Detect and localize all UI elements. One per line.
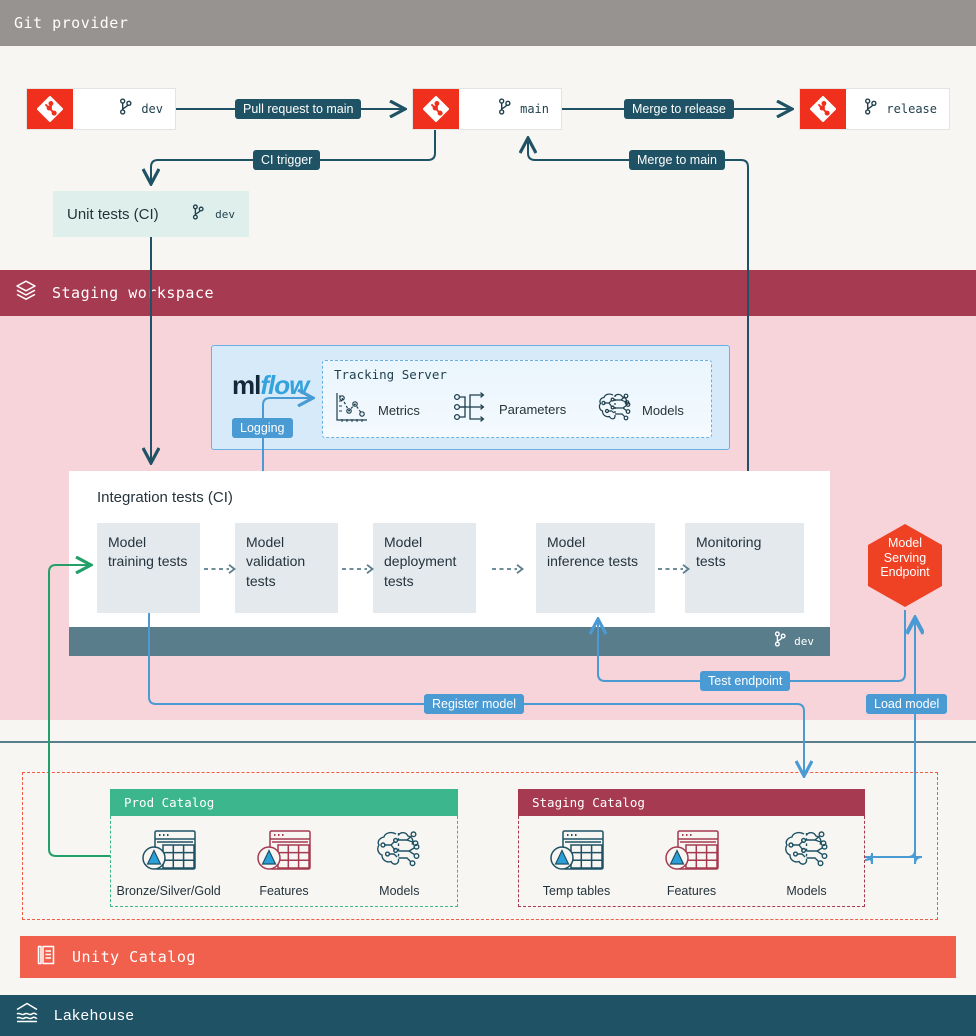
label-pull-request: Pull request to main [235, 99, 361, 119]
catalog-book-icon [34, 943, 58, 972]
dashed-arrow-icon [657, 563, 693, 575]
test-card-monitoring[interactable]: Monitoring tests [685, 523, 804, 613]
test-card-label: Model training tests [108, 534, 187, 569]
catalog-item-label: Models [786, 884, 826, 898]
feature-table-icon [664, 828, 720, 879]
repo-box-dev[interactable]: dev [26, 88, 176, 130]
catalog-item-label: Features [667, 884, 716, 898]
branch-icon [191, 204, 205, 225]
unit-tests-branch: dev [215, 208, 235, 221]
model-serving-endpoint-label: Model Serving Endpoint [866, 536, 944, 580]
prod-catalog: Prod Catalog Bronze/Silver/Gold [110, 789, 458, 907]
unit-tests-label: Unit tests (CI) [67, 206, 181, 223]
label-merge-to-release: Merge to release [624, 99, 734, 119]
lakehouse-icon [14, 1001, 40, 1030]
label-load-model: Load model [866, 694, 947, 714]
staging-catalog-title: Staging Catalog [532, 795, 645, 810]
catalog-item-models[interactable]: Models [349, 828, 449, 898]
scatter-chart-icon [334, 391, 370, 430]
lakehouse-label: Lakehouse [54, 1007, 135, 1024]
git-provider-label: Git provider [14, 14, 128, 32]
staging-workspace-band: Staging workspace [0, 270, 976, 316]
prod-catalog-header: Prod Catalog [110, 789, 458, 816]
test-card-label: Monitoring tests [696, 534, 761, 569]
label-merge-to-main: Merge to main [629, 150, 725, 170]
catalog-item-label: Temp tables [543, 884, 610, 898]
branch-name: release [886, 102, 937, 116]
label-test-endpoint: Test endpoint [700, 671, 790, 691]
mlflow-logo-flow: flow [260, 370, 308, 400]
feature-table-icon [256, 828, 312, 879]
dashed-arrow-icon [341, 563, 377, 575]
git-logo-icon [413, 89, 459, 129]
prod-catalog-title: Prod Catalog [124, 795, 214, 810]
brain-circuit-icon [374, 828, 424, 879]
delta-table-icon [141, 828, 197, 879]
branch-name: dev [141, 102, 163, 116]
tracking-item-label: Models [642, 403, 684, 418]
test-card-label: Model inference tests [547, 534, 638, 569]
delta-table-icon [549, 828, 605, 879]
test-card-label: Model deployment tests [384, 534, 456, 589]
integration-tests-panel: Integration tests (CI) Model training te… [69, 471, 830, 656]
branch-icon [863, 98, 878, 120]
catalog-item-features[interactable]: Features [642, 828, 742, 898]
catalog-item-label: Bronze/Silver/Gold [117, 884, 221, 898]
test-card-model-inference[interactable]: Model inference tests [536, 523, 655, 613]
branch-icon [497, 98, 512, 120]
catalog-item-temp-tables[interactable]: Temp tables [527, 828, 627, 898]
repo-box-main[interactable]: main [412, 88, 562, 130]
git-logo-icon [27, 89, 73, 129]
integration-tests-dev-bar: dev [69, 627, 830, 656]
layers-stack-icon [14, 279, 38, 308]
branch-name: main [520, 102, 549, 116]
tracking-item-label: Parameters [499, 402, 566, 417]
brain-circuit-icon [782, 828, 832, 879]
label-ci-trigger: CI trigger [253, 150, 320, 170]
test-card-model-deployment[interactable]: Model deployment tests [373, 523, 476, 613]
unit-tests-box[interactable]: Unit tests (CI) dev [53, 191, 249, 237]
staging-workspace-label: Staging workspace [52, 284, 214, 302]
integration-tests-title: Integration tests (CI) [97, 489, 233, 506]
catalog-item-models[interactable]: Models [757, 828, 857, 898]
mlflow-logo: mlflow [232, 370, 308, 401]
prod-catalog-body: Bronze/Silver/Gold Features [110, 816, 458, 907]
tracking-server-box: Tracking Server Metrics [322, 360, 712, 438]
branch-icon [773, 631, 787, 652]
mlflow-logo-ml: ml [232, 370, 260, 400]
test-card-model-validation[interactable]: Model validation tests [235, 523, 338, 613]
integration-tests-branch: dev [794, 635, 814, 648]
label-logging: Logging [232, 418, 293, 438]
catalog-item-label: Features [259, 884, 308, 898]
parameters-nodes-icon [453, 391, 491, 428]
lakehouse-band: Lakehouse [0, 995, 976, 1036]
test-card-model-training[interactable]: Model training tests [97, 523, 200, 613]
tracking-item-parameters: Parameters [453, 391, 566, 428]
tracking-item-metrics: Metrics [334, 391, 420, 430]
test-card-label: Model validation tests [246, 534, 305, 589]
git-logo-icon [800, 89, 846, 129]
staging-catalog-header: Staging Catalog [518, 789, 865, 816]
staging-separator [0, 741, 976, 743]
catalog-item-features[interactable]: Features [234, 828, 334, 898]
dashed-arrow-icon [203, 563, 239, 575]
unity-catalog-band: Unity Catalog [20, 936, 956, 978]
catalog-item-label: Models [379, 884, 419, 898]
tracking-item-models: Models [596, 391, 684, 430]
catalog-item-bronze-silver-gold[interactable]: Bronze/Silver/Gold [119, 828, 219, 898]
tracking-item-label: Metrics [378, 403, 420, 418]
branch-icon [118, 98, 133, 120]
unity-catalog-label: Unity Catalog [72, 948, 196, 966]
label-register-model: Register model [424, 694, 524, 714]
tracking-server-title: Tracking Server [334, 367, 447, 382]
git-provider-band: Git provider [0, 0, 976, 46]
brain-circuit-icon [596, 391, 634, 430]
dashed-arrow-icon [491, 563, 527, 575]
staging-catalog: Staging Catalog Temp tables [518, 789, 865, 907]
staging-catalog-body: Temp tables Features [518, 816, 865, 907]
repo-box-release[interactable]: release [799, 88, 950, 130]
